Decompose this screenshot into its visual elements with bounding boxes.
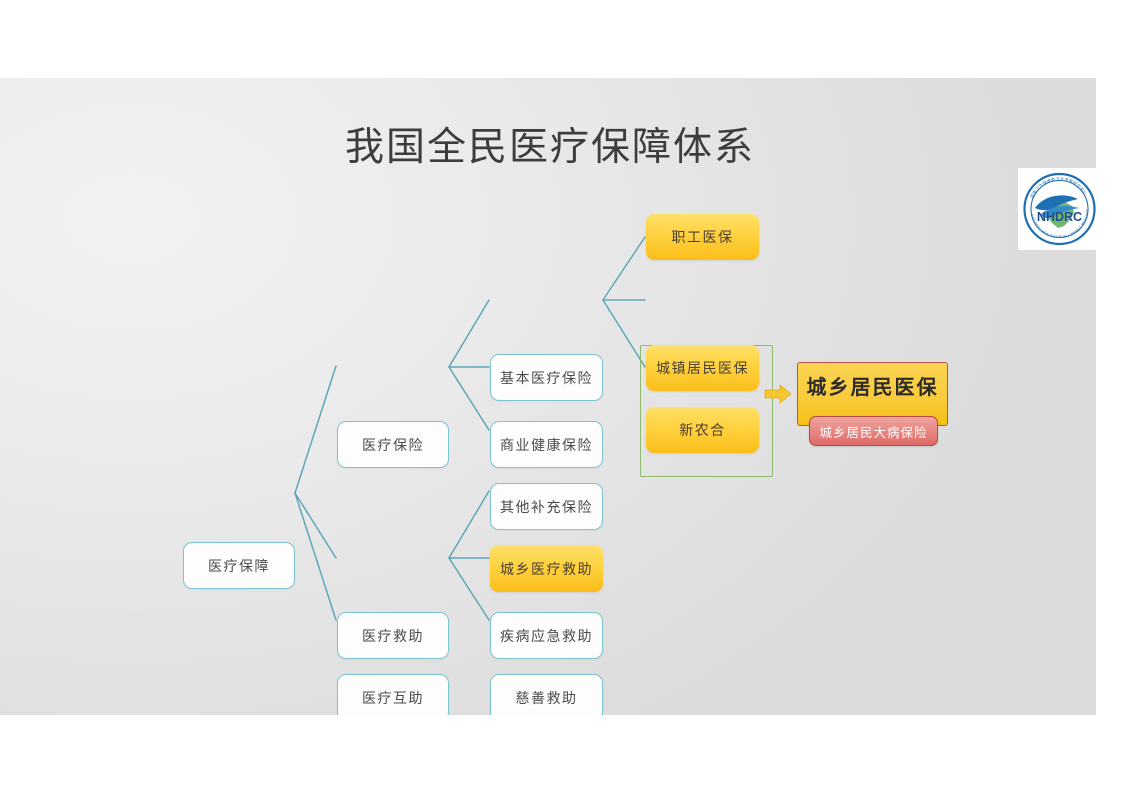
node-cishan-jiuzhu[interactable]: 慈善救助 (490, 674, 603, 715)
node-label: 新农合 (679, 420, 726, 440)
node-yiliao-jiuzhu[interactable]: 医疗救助 (337, 612, 449, 659)
node-label: 城乡居民医保 (807, 371, 939, 400)
node-label: 城镇居民医保 (656, 358, 749, 378)
merge-arrow-icon (764, 384, 792, 404)
node-yiliao-huzhu[interactable]: 医疗互助 (337, 674, 449, 715)
node-yiliao-baoxian[interactable]: 医疗保险 (337, 421, 449, 468)
node-label: 商业健康保险 (500, 435, 593, 455)
node-chengzhen-jumin-yibao[interactable]: 城镇居民医保 (646, 345, 759, 391)
node-label: 医疗保障 (208, 556, 270, 576)
logo-acronym: NHDRC (1037, 210, 1082, 224)
node-label: 职工医保 (672, 227, 734, 247)
node-jiben-yiliao-baoxian[interactable]: 基本医疗保险 (490, 354, 603, 401)
node-chengxiang-yiliao-jiuzhu[interactable]: 城乡医疗救助 (490, 545, 603, 592)
node-chengxiang-jumin-dabing-baoxian[interactable]: 城乡居民大病保险 (809, 416, 938, 446)
node-label: 城乡医疗救助 (500, 559, 593, 579)
node-label: 医疗互助 (362, 688, 424, 708)
node-label: 慈善救助 (516, 688, 578, 708)
node-qita-buchong-baoxian[interactable]: 其他补充保险 (490, 483, 603, 530)
node-label: 城乡居民大病保险 (819, 422, 927, 441)
node-jibing-yingji-jiuzhu[interactable]: 疾病应急救助 (490, 612, 603, 659)
node-label: 其他补充保险 (500, 497, 593, 517)
node-label: 疾病应急救助 (500, 626, 593, 646)
node-label: 医疗保险 (362, 435, 424, 455)
node-xinnonghe[interactable]: 新农合 (646, 407, 759, 453)
slide-canvas: 我国全民医疗保障体系 NHDRC 国家卫生健康委卫生发展研究中心 NATIONA… (0, 78, 1096, 715)
page-title: 我国全民医疗保障体系 (280, 116, 820, 172)
nhdrc-logo: NHDRC 国家卫生健康委卫生发展研究中心 NATIONAL HEALTH DE… (1018, 168, 1096, 250)
node-label: 基本医疗保险 (500, 368, 593, 388)
node-shangye-jiankang-baoxian[interactable]: 商业健康保险 (490, 421, 603, 468)
node-yiliao-baozhang[interactable]: 医疗保障 (183, 542, 295, 589)
node-label: 医疗救助 (362, 626, 424, 646)
node-zhigong-yibao[interactable]: 职工医保 (646, 214, 759, 260)
